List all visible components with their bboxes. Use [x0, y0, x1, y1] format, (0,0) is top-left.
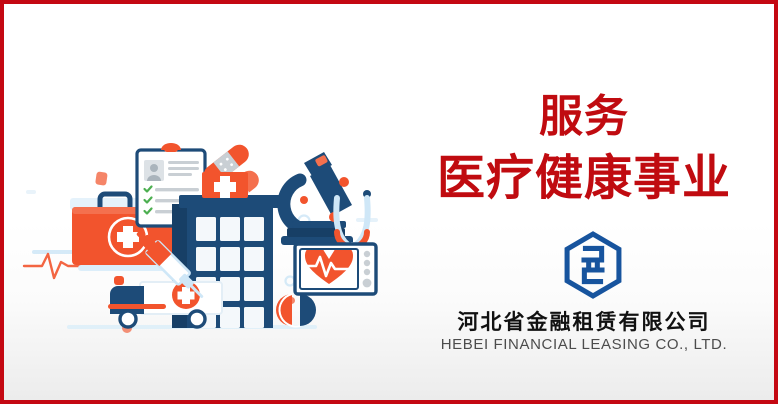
- microscope-icon: [281, 152, 353, 245]
- heart-monitor-icon: [295, 244, 376, 294]
- medical-illustration: [4, 4, 404, 400]
- headline-line-1: 服务: [394, 92, 774, 142]
- right-panel: 服务 医疗健康事业 河北省金融租赁有限公司 HEBEI FINANCIAL LE…: [394, 4, 774, 400]
- company-name-english: HEBEI FINANCIAL LEASING CO., LTD.: [394, 336, 774, 353]
- poster-container: 服务 医疗健康事业 河北省金融租赁有限公司 HEBEI FINANCIAL LE…: [0, 0, 778, 404]
- pill-capsule-icon: [276, 294, 316, 326]
- headline-line-2: 医疗健康事业: [394, 150, 774, 206]
- hebei-financial-leasing-logo-icon: [557, 229, 629, 301]
- ambulance-icon: [108, 276, 222, 327]
- company-name-chinese: 河北省金融租赁有限公司: [394, 306, 774, 336]
